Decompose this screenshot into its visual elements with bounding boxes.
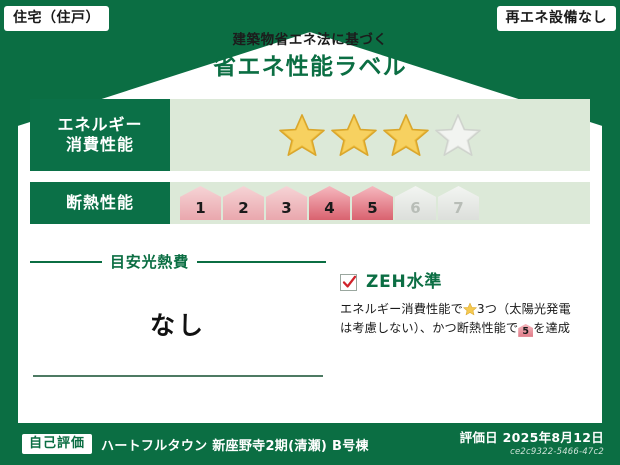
zeh-desc-part1: エネルギー消費性能で	[340, 302, 463, 316]
utility-cost-heading-text: 目安光熱費	[110, 255, 189, 270]
energy-performance-label: 住宅（住戸） 再エネ設備なし 建築物省エネ法に基づく 省エネ性能ラベル エネルギ…	[0, 0, 620, 465]
insulation-level-scale: 1 2 3 4 5	[170, 182, 590, 224]
self-evaluation-badge: 自己評価	[22, 434, 92, 454]
zeh-heading: ZEH水準	[340, 274, 592, 291]
utility-cost-heading: 目安光熱費	[30, 252, 326, 272]
energy-label-line2: 消費性能	[66, 135, 134, 155]
star-filled-icon	[278, 112, 326, 158]
section-divider	[33, 375, 323, 377]
zeh-desc-part3: は考慮しない）、かつ断熱性能で	[340, 321, 518, 335]
check-icon	[342, 275, 357, 290]
zeh-checkbox[interactable]	[340, 274, 357, 291]
evaluation-date: 評価日 2025年8月12日	[460, 431, 604, 445]
footer-right-group: 評価日 2025年8月12日 ce2c9322-5466-47c2	[460, 431, 620, 457]
zeh-title: ZEH水準	[366, 274, 442, 291]
zeh-section: ZEH水準 エネルギー消費性能で3つ（太陽光発電は考慮しない）、かつ断熱性能で5…	[340, 274, 592, 338]
insulation-performance-label: 断熱性能	[30, 182, 170, 224]
insulation-level-6: 6	[395, 186, 436, 220]
lower-section: 目安光熱費 なし ZEH水準 エネルギー消費性能で3つ（太陽光発電は考慮しない）…	[30, 252, 590, 402]
label-footer: 自己評価 ハートフルタウン 新座野寺2期(清瀬) B号棟 評価日 2025年8月…	[0, 423, 620, 465]
energy-performance-row: エネルギー 消費性能	[30, 99, 590, 171]
tag-renewable-energy: 再エネ設備なし	[497, 6, 617, 31]
insulation-achieved-badge: 5	[518, 324, 533, 337]
footer-left-group: 自己評価 ハートフルタウン 新座野寺2期(清瀬) B号棟	[0, 434, 369, 454]
star-empty-icon	[434, 112, 482, 158]
zeh-desc-part2: 3つ（太陽光発電	[477, 302, 571, 316]
energy-star-rating	[170, 99, 590, 171]
evaluation-id: ce2c9322-5466-47c2	[460, 447, 604, 457]
insulation-level-1: 1	[180, 186, 221, 220]
divider-right	[197, 261, 326, 263]
zeh-description: エネルギー消費性能で3つ（太陽光発電は考慮しない）、かつ断熱性能で5を達成	[340, 300, 592, 338]
insulation-level-3: 3	[266, 186, 307, 220]
performance-rows: エネルギー 消費性能	[30, 99, 590, 235]
insulation-level-4: 4	[309, 186, 350, 220]
zeh-desc-part4: を達成	[533, 321, 570, 335]
insulation-level-2: 2	[223, 186, 264, 220]
insulation-level-5: 5	[352, 186, 393, 220]
star-filled-icon	[463, 302, 477, 316]
energy-label-line1: エネルギー	[57, 115, 142, 135]
energy-performance-label: エネルギー 消費性能	[30, 99, 170, 171]
divider-left	[30, 261, 102, 263]
insulation-performance-row: 断熱性能 1 2 3 4	[30, 182, 590, 224]
project-name: ハートフルタウン 新座野寺2期(清瀬) B号棟	[101, 435, 369, 454]
insulation-level-7: 7	[438, 186, 479, 220]
star-filled-icon	[382, 112, 430, 158]
star-filled-icon	[330, 112, 378, 158]
tag-building-type: 住宅（住戸）	[4, 6, 109, 31]
utility-cost-value: なし	[30, 306, 326, 342]
utility-cost-section: 目安光熱費 なし	[30, 252, 326, 402]
insulation-label-text: 断熱性能	[66, 193, 134, 213]
